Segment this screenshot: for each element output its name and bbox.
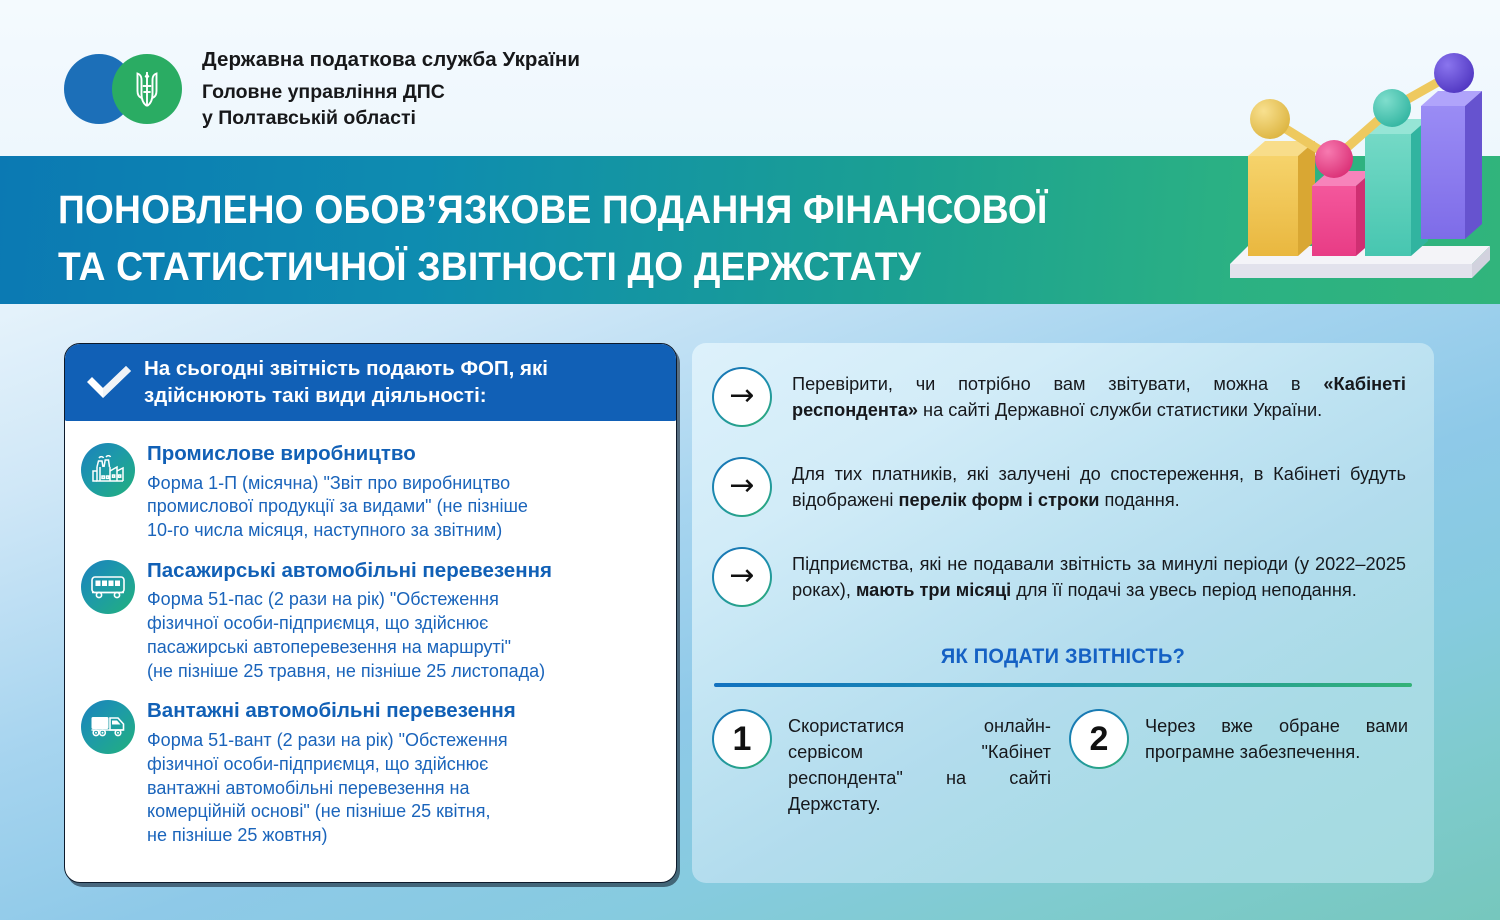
trident-emblem-icon	[130, 67, 164, 111]
activities-card-header-text: На сьогодні звітність подають ФОП, які з…	[144, 355, 548, 409]
pink-bar	[1312, 171, 1373, 256]
list-item: Вантажні автомобільні перевезення Форма …	[81, 698, 658, 847]
step-text: Скористатися онлайн-сервісом "Кабінет ре…	[788, 711, 1051, 817]
org-title-line-2: Головне управління ДПС у Полтавській обл…	[202, 80, 580, 131]
instructions-panel: → Перевірити, чи потрібно вам звітувати,…	[692, 343, 1434, 883]
activities-list: Промислове виробництво Форма 1-П (місячн…	[65, 421, 676, 848]
step-item: 2 Через вже обране вами програмне забезп…	[1071, 711, 1408, 817]
instruction-bullet: → Перевірити, чи потрібно вам звітувати,…	[692, 369, 1434, 425]
3d-bar-chart-illustration	[1222, 46, 1500, 298]
organization-logo-block: Державна податкова служба України Головн…	[64, 47, 580, 132]
list-item: Промислове виробництво Форма 1-П (місячн…	[81, 441, 658, 543]
step-text: Через вже обране вами програмне забезпеч…	[1145, 711, 1408, 766]
factory-icon	[81, 443, 135, 497]
instruction-text-part2: подання.	[1099, 490, 1179, 510]
step-number-1-badge: 1	[714, 711, 770, 767]
logo-green-circle-icon	[112, 54, 182, 124]
activity-description: Форма 1-П (місячна) "Звіт про виробництв…	[147, 472, 658, 543]
instruction-text-part2: для її подачі за увесь період неподання.	[1011, 580, 1357, 600]
activity-text: Вантажні автомобільні перевезення Форма …	[147, 698, 658, 847]
activity-description: Форма 51-пас (2 рази на рік) "Обстеження…	[147, 588, 658, 683]
yellow-sphere	[1250, 99, 1290, 139]
instruction-text-bold: мають три місяці	[856, 580, 1011, 600]
activities-card-header: На сьогодні звітність подають ФОП, які з…	[64, 343, 677, 421]
step-item: 1 Скористатися онлайн-сервісом "Кабінет …	[714, 711, 1051, 817]
activity-title: Вантажні автомобільні перевезення	[147, 699, 658, 724]
instruction-text: Підприємства, які не подавали звітність …	[792, 549, 1406, 603]
arrow-right-icon: →	[714, 549, 770, 605]
infographic-page: Державна податкова служба України Головн…	[0, 0, 1500, 920]
activities-card: На сьогодні звітність подають ФОП, які з…	[64, 343, 677, 883]
purple-sphere	[1434, 53, 1474, 93]
purple-bar	[1421, 91, 1482, 239]
teal-bar	[1365, 119, 1428, 256]
check-icon	[82, 361, 136, 403]
org-title-line-1: Державна податкова служба України	[202, 47, 580, 73]
instruction-bullet: → Для тих платників, які залучені до спо…	[692, 459, 1434, 515]
teal-sphere	[1373, 89, 1411, 127]
section-divider	[714, 683, 1412, 687]
arrow-right-icon: →	[714, 369, 770, 425]
instruction-text-bold: перелік форм і строки	[899, 490, 1100, 510]
instruction-text-part1: Перевірити, чи потрібно вам звітувати, м…	[792, 374, 1323, 394]
activity-text: Пасажирські автомобільні перевезення Фор…	[147, 558, 658, 684]
how-to-section: ЯК ПОДАТИ ЗВІТНІСТЬ?	[692, 645, 1434, 687]
arrow-right-icon: →	[714, 459, 770, 515]
step-number-2-badge: 2	[1071, 711, 1127, 767]
yellow-bar	[1248, 141, 1315, 256]
activity-title: Пасажирські автомобільні перевезення	[147, 559, 658, 584]
instruction-text-part2: на сайті Державної служби статистики Укр…	[918, 400, 1322, 420]
step-number: 2	[1090, 722, 1109, 756]
how-to-title: ЯК ПОДАТИ ЗВІТНІСТЬ?	[711, 645, 1416, 669]
page-title: ПОНОВЛЕНО ОБОВ’ЯЗКОВЕ ПОДАННЯ ФІНАНСОВОЇ…	[58, 182, 1188, 296]
list-item: Пасажирські автомобільні перевезення Фор…	[81, 558, 658, 684]
instruction-text: Перевірити, чи потрібно вам звітувати, м…	[792, 369, 1406, 423]
organization-name: Державна податкова служба України Головн…	[202, 47, 580, 132]
bus-icon	[81, 560, 135, 614]
instruction-text: Для тих платників, які залучені до спост…	[792, 459, 1406, 513]
logo-marks	[64, 48, 196, 130]
activity-description: Форма 51-вант (2 рази на рік) "Обстеженн…	[147, 729, 658, 848]
step-number: 1	[733, 722, 752, 756]
instruction-bullet: → Підприємства, які не подавали звітніст…	[692, 549, 1434, 605]
truck-icon	[81, 700, 135, 754]
activity-text: Промислове виробництво Форма 1-П (місячн…	[147, 441, 658, 543]
steps-row: 1 Скористатися онлайн-сервісом "Кабінет …	[692, 711, 1434, 817]
pink-sphere	[1315, 140, 1353, 178]
activity-title: Промислове виробництво	[147, 442, 658, 467]
